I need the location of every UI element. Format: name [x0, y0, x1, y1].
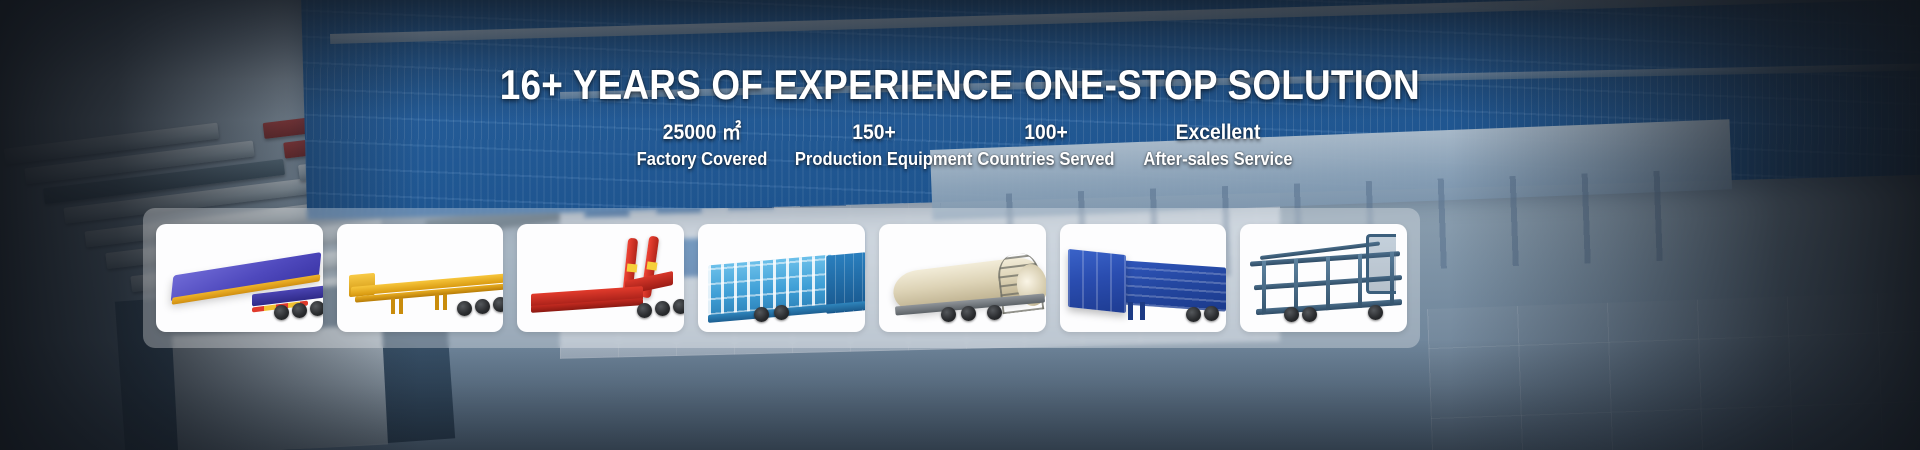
stat-item-production-equipment: 150+ Production Equipment	[795, 120, 953, 170]
fence-cargo-trailer-image	[698, 224, 865, 332]
stat-value: 100+	[967, 120, 1125, 145]
car-carrier-trailer-image	[1240, 224, 1407, 332]
stat-item-factory-covered: 25000 ㎡ Factory Covered	[623, 120, 781, 170]
stats-row: 25000 ㎡ Factory Covered 150+ Production …	[616, 120, 1304, 170]
product-card-skeleton-container-chassis-trailer[interactable]	[337, 224, 504, 332]
stat-label: After-sales Service	[1139, 148, 1297, 170]
stat-label: Production Equipment	[795, 148, 953, 170]
stat-value: 150+	[795, 120, 953, 145]
flatbed-trailer-image	[156, 224, 323, 332]
stat-item-after-sales-service: Excellent After-sales Service	[1139, 120, 1297, 170]
skeleton-chassis-trailer-image	[337, 224, 504, 332]
promo-banner: 16+ YEARS OF EXPERIENCE ONE-STOP SOLUTIO…	[0, 0, 1920, 450]
product-card-bulk-cement-powder-tanker-trailer[interactable]	[879, 224, 1046, 332]
product-card-flatbed-semi-trailer[interactable]	[156, 224, 323, 332]
stat-item-countries-served: 100+ Countries Served	[967, 120, 1125, 170]
stat-label: Countries Served	[967, 148, 1125, 170]
product-thumbnail-strip	[143, 208, 1420, 348]
stat-label: Factory Covered	[623, 148, 781, 170]
stat-value: 25000 ㎡	[623, 120, 781, 145]
product-card-fence-stake-cargo-semi-trailer[interactable]	[698, 224, 865, 332]
headline-text: 16+ YEARS OF EXPERIENCE ONE-STOP SOLUTIO…	[500, 62, 1420, 108]
lowbed-trailer-image	[517, 224, 684, 332]
cement-tanker-trailer-image	[879, 224, 1046, 332]
product-card-lowbed-semi-trailer[interactable]	[517, 224, 684, 332]
product-card-car-carrier-transport-trailer[interactable]	[1240, 224, 1407, 332]
product-card-side-wall-cargo-semi-trailer[interactable]	[1060, 224, 1227, 332]
stat-value: Excellent	[1139, 120, 1297, 145]
side-wall-cargo-trailer-image	[1060, 224, 1227, 332]
